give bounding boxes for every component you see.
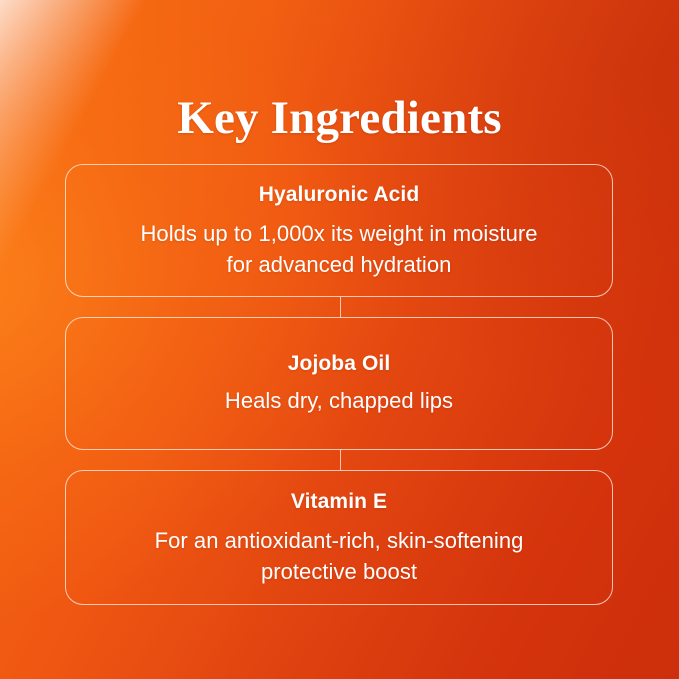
card-connector-line [340, 450, 341, 470]
card-connector-line [340, 297, 341, 317]
ingredient-title: Jojoba Oil [288, 351, 391, 377]
ingredient-description: Holds up to 1,000x its weight in moistur… [139, 218, 539, 280]
ingredient-description: For an antioxidant-rich, skin-softening … [149, 525, 529, 587]
ingredient-card-jojoba-oil: Jojoba Oil Heals dry, chapped lips [65, 317, 613, 450]
key-ingredients-panel: Key Ingredients Hyaluronic Acid Holds up… [0, 0, 679, 679]
ingredient-title: Hyaluronic Acid [259, 182, 420, 208]
ingredient-title: Vitamin E [291, 489, 387, 515]
ingredient-card-vitamin-e: Vitamin E For an antioxidant-rich, skin-… [65, 470, 613, 605]
ingredient-card-hyaluronic-acid: Hyaluronic Acid Holds up to 1,000x its w… [65, 164, 613, 297]
page-title: Key Ingredients [0, 90, 679, 146]
ingredient-description: Heals dry, chapped lips [225, 385, 453, 416]
